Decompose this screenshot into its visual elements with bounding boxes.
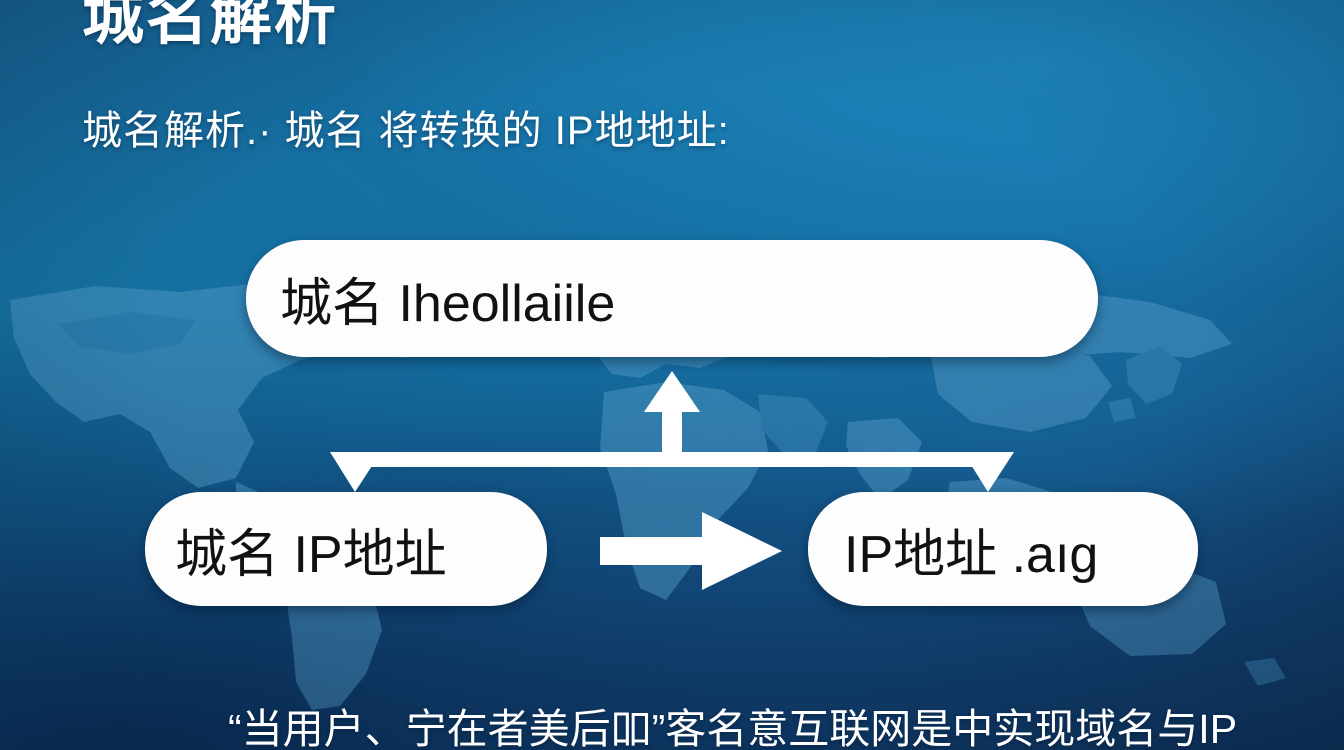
diagram-node-ip-address[interactable]: IP地址 .aıg — [808, 492, 1198, 606]
slide-footnote: “当用户、宁在者美后吅”客名意互联网是中实现域名与IP — [228, 706, 1237, 750]
diagram-node-domain-name[interactable]: 城名 Iheollaiile — [246, 240, 1098, 357]
diagram-node-domain-ip[interactable]: 城名 IP地址 — [145, 492, 547, 606]
presentation-slide: 城名解析 城名解析.· 城名 将转换的 IP地地址: — [0, 0, 1344, 750]
page-subtitle: 城名解析.· 城名 将转换的 IP地地址: — [82, 107, 730, 155]
page-title: 城名解析 — [82, 0, 338, 52]
